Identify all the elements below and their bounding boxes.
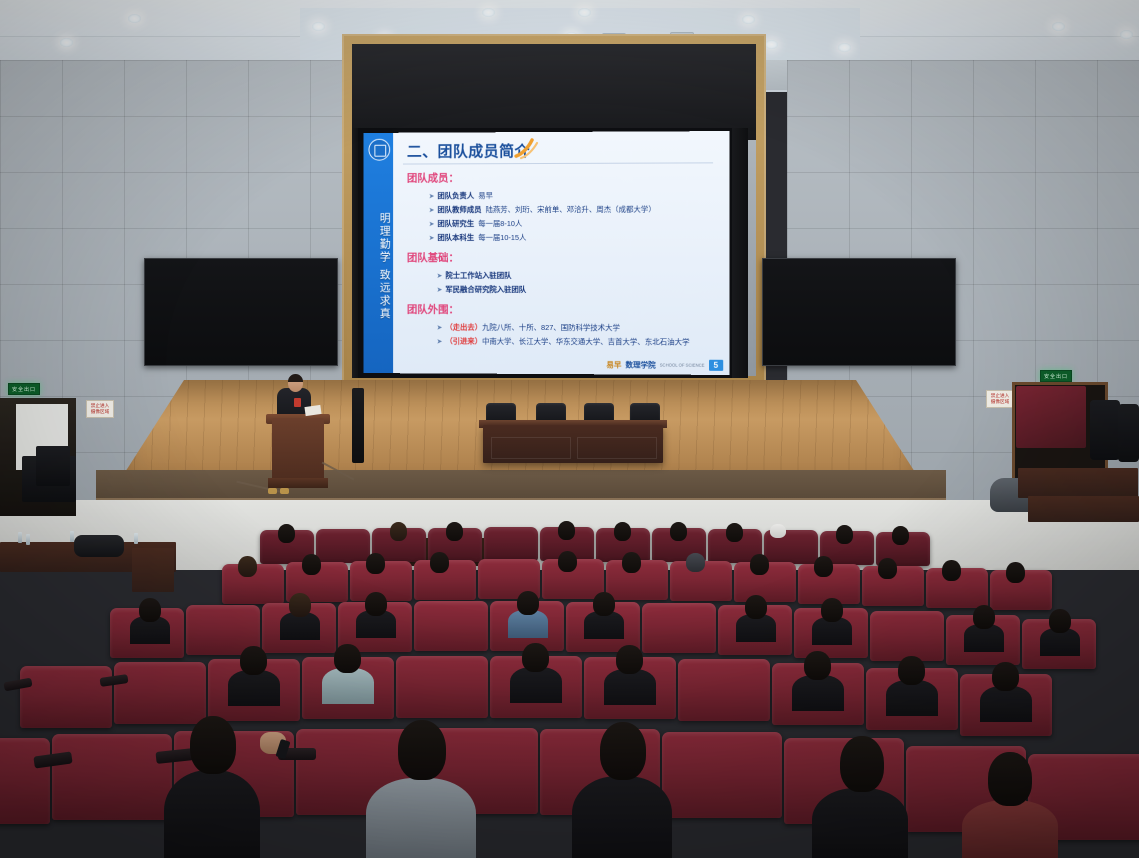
bullet-label: （走出去） bbox=[445, 323, 482, 332]
right-side-bench bbox=[1028, 496, 1139, 522]
audience-head bbox=[750, 554, 769, 575]
audience-head bbox=[745, 595, 767, 619]
title-swoosh-icon bbox=[514, 138, 540, 160]
footer-org-sub: SCHOOL OF SCIENCE bbox=[660, 363, 705, 368]
audience-head bbox=[892, 526, 909, 545]
audience-head bbox=[622, 552, 641, 573]
right-curtain bbox=[730, 128, 748, 378]
audience-head bbox=[600, 722, 646, 780]
audience-shoulders bbox=[812, 788, 908, 858]
auditorium-seat bbox=[316, 529, 370, 563]
slide-bullet: ➤（引进来）中南大学、长江大学、华东交通大学、吉首大学、东北石油大学 bbox=[437, 336, 690, 348]
auditorium-seat bbox=[414, 601, 488, 651]
audience-shoulders bbox=[980, 686, 1032, 722]
audience-shoulders bbox=[164, 770, 260, 858]
audience-head bbox=[398, 720, 446, 780]
conference-table bbox=[483, 425, 663, 463]
audience-head bbox=[726, 523, 743, 542]
ceiling-downlight bbox=[578, 8, 591, 17]
bullet-arrow-icon: ➤ bbox=[429, 207, 435, 214]
audience-head bbox=[446, 522, 463, 541]
audience-shoulders bbox=[228, 670, 280, 706]
audience-head bbox=[992, 662, 1019, 691]
bullet-value: 中南大学、长江大学、华东交通大学、吉首大学、东北石油大学 bbox=[482, 337, 690, 347]
auditorium-photo: 明理勤学 致远求真 二、团队成员简介 团队成员： ➤团队负责人 易早 ➤团队教师… bbox=[0, 0, 1139, 858]
auditorium-seat bbox=[396, 656, 488, 718]
auditorium-seat bbox=[662, 732, 782, 818]
audience-seating bbox=[0, 520, 1139, 858]
audience-head bbox=[670, 522, 687, 541]
slide-bullet: ➤团队研究生 每一届8-10人 bbox=[429, 218, 523, 229]
projected-slide[interactable]: 明理勤学 致远求真 二、团队成员简介 团队成员： ➤团队负责人 易早 ➤团队教师… bbox=[364, 131, 730, 375]
table-panel bbox=[491, 437, 571, 459]
exit-sign-right: 安全出口 bbox=[1040, 370, 1072, 382]
auditorium-seat bbox=[52, 734, 172, 820]
audience-head bbox=[836, 525, 853, 544]
ceiling-downlight bbox=[742, 15, 755, 24]
audience-head bbox=[804, 651, 831, 680]
bullet-arrow-icon: ➤ bbox=[437, 273, 443, 280]
audience-head bbox=[898, 656, 925, 685]
audience-head bbox=[814, 556, 833, 577]
bullet-value: 易早 bbox=[478, 191, 493, 200]
audience-head bbox=[366, 553, 385, 574]
auditorium-seat bbox=[678, 659, 770, 721]
audience-shoulders bbox=[322, 668, 374, 704]
audience-head bbox=[558, 521, 575, 540]
title-divider bbox=[403, 162, 713, 164]
slide-bullet: ➤院士工作站入驻团队 bbox=[437, 270, 512, 281]
audience-head bbox=[988, 752, 1032, 806]
auditorium-seat bbox=[484, 527, 538, 561]
bullet-label: 军民融合研究院入驻团队 bbox=[445, 285, 526, 294]
audience-head bbox=[289, 593, 311, 617]
audience-head bbox=[238, 556, 257, 577]
bullet-arrow-icon: ➤ bbox=[437, 339, 443, 346]
audience-shoulders bbox=[604, 669, 656, 705]
slide-bullet: ➤团队本科生 每一届10-15人 bbox=[429, 232, 527, 243]
bullet-label: 团队研究生 bbox=[437, 219, 474, 228]
slide-page-number: 5 bbox=[709, 360, 724, 371]
audience-shoulders bbox=[886, 680, 938, 716]
audience-head bbox=[390, 522, 407, 541]
left-display-panel bbox=[144, 258, 338, 366]
exit-sign-left: 安全出口 bbox=[8, 383, 40, 395]
bullet-arrow-icon: ➤ bbox=[429, 235, 435, 242]
slide-bullet: ➤（走出去）九院八所、十所、827、国防科学技术大学 bbox=[437, 322, 620, 334]
audience-head bbox=[1006, 562, 1025, 583]
auditorium-seat bbox=[642, 603, 716, 653]
audience-head bbox=[686, 553, 705, 572]
left-speaker-cabinet bbox=[36, 446, 70, 486]
right-side-table bbox=[1018, 468, 1138, 498]
bullet-value: 陆燕芳、刘珩、宋前单、邓洽升、周杰（成都大学） bbox=[486, 205, 656, 214]
audience-head bbox=[558, 551, 577, 572]
ceiling-downlight bbox=[838, 43, 851, 52]
bullet-label: 院士工作站入驻团队 bbox=[445, 271, 511, 280]
ceiling-downlight bbox=[1120, 30, 1133, 39]
auditorium-seat bbox=[0, 738, 50, 824]
bullet-arrow-icon: ➤ bbox=[429, 221, 435, 228]
ceiling-downlight bbox=[128, 14, 141, 23]
stage-floor-box bbox=[268, 488, 277, 494]
stage-speaker bbox=[352, 388, 364, 463]
right-side-chair bbox=[1118, 404, 1139, 462]
right-display-panel bbox=[762, 258, 956, 366]
right-stacked-chairs bbox=[1016, 386, 1086, 448]
slide-bullet: ➤团队教师成员 陆燕芳、刘珩、宋前单、邓洽升、周杰（成都大学） bbox=[429, 204, 656, 215]
warning-sign-right: 禁止进入摄像区域 bbox=[986, 390, 1014, 408]
audience-head bbox=[190, 716, 236, 774]
auditorium-seat bbox=[870, 611, 944, 661]
podium-base bbox=[268, 478, 328, 488]
warning-sign-left: 禁止进入摄像区域 bbox=[86, 400, 114, 418]
bullet-value: 每一届10-15人 bbox=[478, 233, 526, 242]
audience-head bbox=[522, 643, 549, 672]
audience-head bbox=[302, 554, 321, 575]
audience-head bbox=[821, 598, 843, 622]
ceiling-downlight bbox=[482, 8, 495, 17]
slide-title: 二、团队成员简介 bbox=[407, 140, 530, 161]
bullet-arrow-icon: ➤ bbox=[437, 325, 443, 332]
footer-author: 易早 bbox=[606, 359, 621, 370]
auditorium-seat bbox=[114, 662, 206, 724]
audience-head bbox=[1049, 609, 1071, 633]
ceiling-downlight bbox=[60, 38, 73, 47]
bullet-arrow-icon: ➤ bbox=[437, 287, 443, 294]
slide-bullet: ➤团队负责人 易早 bbox=[429, 190, 493, 201]
slide-motto: 明理勤学 致远求真 bbox=[367, 167, 391, 366]
bullet-label: （引进来） bbox=[445, 337, 482, 346]
slide-section-heading: 团队基础： bbox=[407, 250, 459, 265]
bullet-value: 每一届8-10人 bbox=[478, 219, 522, 228]
stage-header-shadow bbox=[352, 44, 756, 140]
ceiling-downlight bbox=[1052, 22, 1065, 31]
audience-head bbox=[240, 646, 267, 675]
audience-shoulders bbox=[962, 800, 1058, 858]
slide-sidebar: 明理勤学 致远求真 bbox=[364, 133, 394, 373]
bullet-value: 九院八所、十所、827、国防科学技术大学 bbox=[482, 323, 620, 332]
audience-shoulders bbox=[366, 778, 476, 858]
bullet-label: 团队教师成员 bbox=[437, 205, 481, 214]
presenter-badge bbox=[294, 398, 301, 407]
audience-head bbox=[365, 592, 387, 616]
bullet-arrow-icon: ➤ bbox=[429, 193, 435, 200]
table-panel bbox=[577, 437, 657, 459]
audience-head bbox=[942, 560, 961, 581]
slide-section-heading: 团队外围： bbox=[407, 302, 459, 317]
audience-head bbox=[616, 645, 643, 674]
ceiling-downlight bbox=[765, 40, 778, 49]
slide-bullet: ➤军民融合研究院入驻团队 bbox=[437, 284, 527, 295]
bullet-label: 团队本科生 bbox=[437, 233, 474, 242]
audience-head bbox=[840, 736, 884, 792]
audience-shoulders bbox=[510, 667, 562, 703]
audience-head bbox=[593, 592, 615, 616]
right-side-chair bbox=[1090, 400, 1120, 460]
slide-section-heading: 团队成员： bbox=[407, 170, 459, 185]
audience-head bbox=[614, 522, 631, 541]
auditorium-seat bbox=[20, 666, 112, 728]
footer-org: 数理学院 bbox=[625, 359, 655, 370]
audience-head bbox=[430, 552, 449, 573]
presenter-hair bbox=[288, 374, 303, 382]
audience-head bbox=[278, 524, 295, 543]
audience-head bbox=[973, 605, 995, 629]
audience-shoulders bbox=[792, 675, 844, 711]
bullet-label: 团队负责人 bbox=[437, 191, 474, 200]
audience-head bbox=[139, 598, 161, 622]
stage-floor-box bbox=[280, 488, 289, 494]
audience-head bbox=[878, 558, 897, 579]
ceiling-downlight bbox=[312, 22, 325, 31]
audience-head bbox=[517, 591, 539, 615]
university-logo-icon bbox=[368, 139, 390, 161]
audience-head bbox=[770, 524, 786, 538]
audience-shoulders bbox=[572, 776, 672, 858]
slide-footer: 易早 数理学院 SCHOOL OF SCIENCE 5 bbox=[606, 359, 723, 371]
audience-head bbox=[334, 644, 361, 673]
